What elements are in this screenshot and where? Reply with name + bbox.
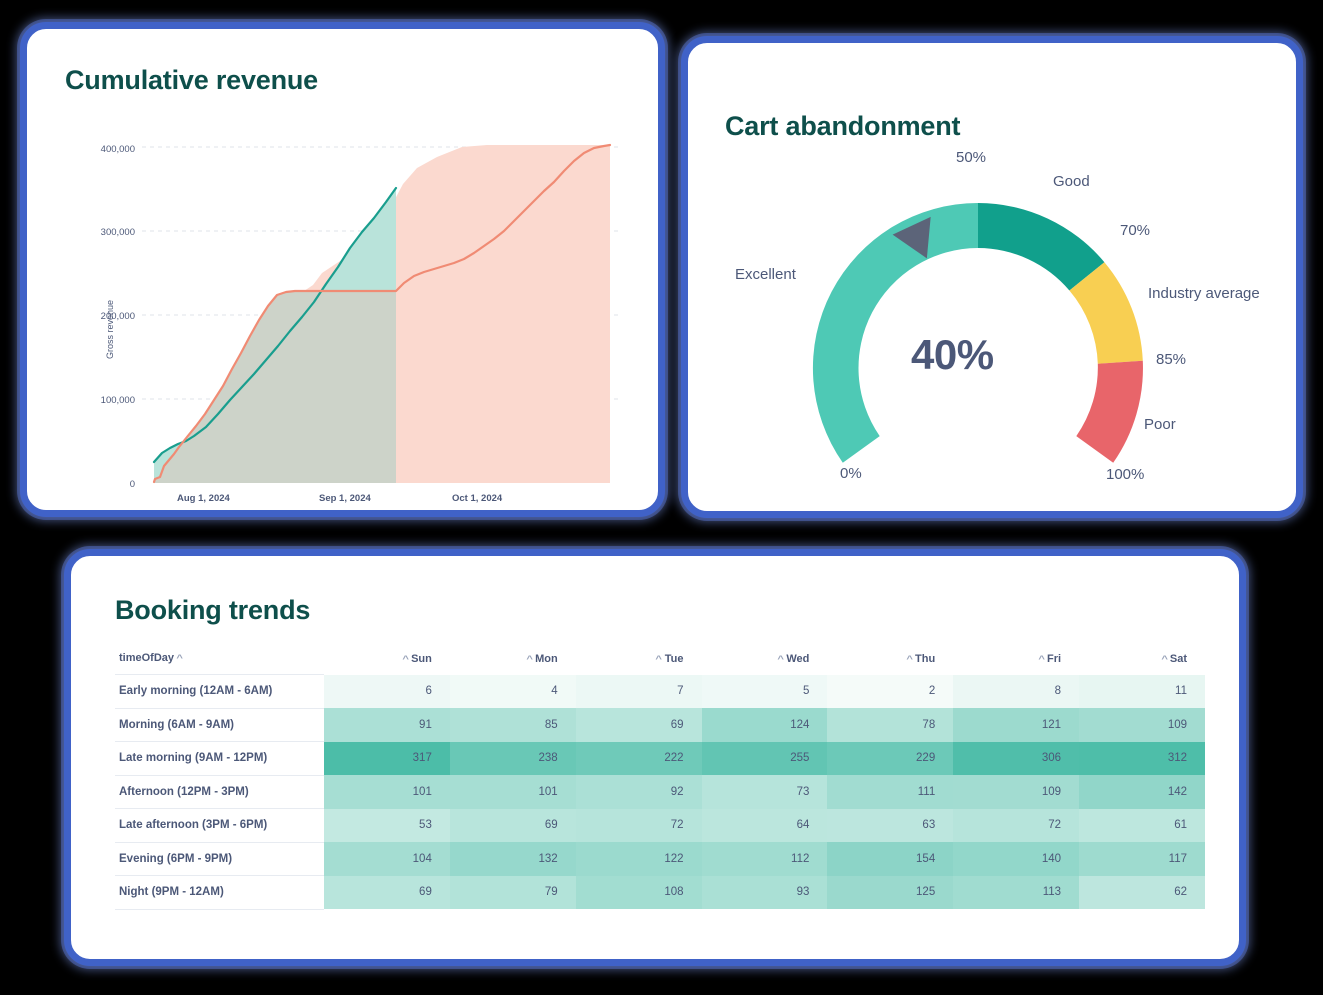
caret-up-icon[interactable]: ^ [1038, 654, 1045, 664]
caret-up-icon[interactable]: ^ [402, 654, 409, 664]
column-header-label: Thu [915, 653, 935, 665]
heatmap-cell[interactable]: 132 [450, 842, 576, 876]
table-head: timeOfDay ^ ^ Sun ^ Mon ^ [115, 652, 1205, 675]
y-axis-tick: 0 [67, 479, 135, 490]
gauge-tick-70: 70% [1120, 222, 1150, 239]
heatmap-cell[interactable]: 238 [450, 742, 576, 776]
row-label: Morning (6AM - 9AM) [115, 708, 324, 742]
heatmap-cell[interactable]: 125 [827, 876, 953, 910]
heatmap-cell[interactable]: 53 [324, 809, 450, 843]
table-row[interactable]: Late morning (9AM - 12PM)317238222255229… [115, 742, 1205, 776]
y-axis-tick: 400,000 [67, 144, 135, 155]
gauge-tick-0: 0% [840, 465, 862, 482]
column-header-label: Sat [1170, 653, 1187, 665]
cart-abandonment-gauge: 40% 0% 50% 70% 85% 100% Excellent Good I… [708, 123, 1293, 513]
gauge-band-label-excellent: Excellent [735, 266, 796, 283]
heatmap-cell[interactable]: 4 [450, 675, 576, 709]
revenue-plot-svg [142, 143, 622, 533]
heatmap-cell[interactable]: 108 [576, 876, 702, 910]
booking-trends-table-wrap: timeOfDay ^ ^ Sun ^ Mon ^ [115, 652, 1205, 910]
heatmap-cell[interactable]: 112 [702, 842, 828, 876]
column-header-label: timeOfDay [119, 652, 174, 664]
gauge-svg [743, 133, 1213, 513]
gauge-band-label-industry: Industry average [1148, 285, 1260, 302]
column-header-timeofday[interactable]: timeOfDay ^ [115, 652, 324, 675]
heatmap-cell[interactable]: 154 [827, 842, 953, 876]
column-header-tue[interactable]: ^ Tue [576, 652, 702, 675]
table-row[interactable]: Afternoon (12PM - 3PM)101101927311110914… [115, 775, 1205, 809]
x-axis-tick: Oct 1, 2024 [452, 493, 502, 504]
cumulative-revenue-card: Cumulative revenue Gross revenue 400,000… [20, 22, 665, 517]
heatmap-cell[interactable]: 62 [1079, 876, 1205, 910]
overlap-area [154, 291, 396, 483]
gauge-band-label-good: Good [1053, 173, 1090, 190]
caret-up-icon[interactable]: ^ [1161, 654, 1168, 664]
column-header-thu[interactable]: ^ Thu [827, 652, 953, 675]
heatmap-cell[interactable]: 229 [827, 742, 953, 776]
y-axis-tick: 100,000 [67, 395, 135, 406]
heatmap-cell[interactable]: 72 [953, 809, 1079, 843]
column-header-wed[interactable]: ^ Wed [702, 652, 828, 675]
heatmap-cell[interactable]: 7 [576, 675, 702, 709]
table-row[interactable]: Late afternoon (3PM - 6PM)53697264637261 [115, 809, 1205, 843]
heatmap-cell[interactable]: 113 [953, 876, 1079, 910]
heatmap-cell[interactable]: 109 [1079, 708, 1205, 742]
heatmap-cell[interactable]: 101 [450, 775, 576, 809]
heatmap-cell[interactable]: 8 [953, 675, 1079, 709]
heatmap-cell[interactable]: 64 [702, 809, 828, 843]
heatmap-cell[interactable]: 72 [576, 809, 702, 843]
gauge-band-label-poor: Poor [1144, 416, 1176, 433]
heatmap-cell[interactable]: 255 [702, 742, 828, 776]
heatmap-cell[interactable]: 306 [953, 742, 1079, 776]
caret-up-icon[interactable]: ^ [906, 654, 913, 664]
caret-up-icon[interactable]: ^ [777, 654, 784, 664]
heatmap-cell[interactable]: 101 [324, 775, 450, 809]
gauge-tick-85: 85% [1156, 351, 1186, 368]
cumulative-revenue-chart: Gross revenue 400,000 300,000 200,000 10… [37, 109, 657, 509]
column-header-label: Sun [411, 653, 432, 665]
row-label: Early morning (12AM - 6AM) [115, 675, 324, 709]
heatmap-cell[interactable]: 69 [324, 876, 450, 910]
column-header-label: Mon [535, 653, 558, 665]
booking-trends-table: timeOfDay ^ ^ Sun ^ Mon ^ [115, 652, 1205, 910]
column-header-mon[interactable]: ^ Mon [450, 652, 576, 675]
heatmap-cell[interactable]: 91 [324, 708, 450, 742]
heatmap-cell[interactable]: 85 [450, 708, 576, 742]
heatmap-cell[interactable]: 122 [576, 842, 702, 876]
heatmap-cell[interactable]: 104 [324, 842, 450, 876]
heatmap-cell[interactable]: 317 [324, 742, 450, 776]
caret-up-icon[interactable]: ^ [656, 654, 663, 664]
heatmap-cell[interactable]: 79 [450, 876, 576, 910]
heatmap-cell[interactable]: 73 [702, 775, 828, 809]
y-axis-title: Gross revenue [105, 300, 115, 359]
table-body: Early morning (12AM - 6AM)64752811Mornin… [115, 675, 1205, 910]
row-label: Night (9PM - 12AM) [115, 876, 324, 910]
heatmap-cell[interactable]: 92 [576, 775, 702, 809]
heatmap-cell[interactable]: 93 [702, 876, 828, 910]
heatmap-cell[interactable]: 78 [827, 708, 953, 742]
table-row[interactable]: Night (9PM - 12AM)69791089312511362 [115, 876, 1205, 910]
row-label: Late morning (9AM - 12PM) [115, 742, 324, 776]
row-label: Afternoon (12PM - 3PM) [115, 775, 324, 809]
booking-trends-card: Booking trends timeOfDay ^ ^ Sun [64, 549, 1246, 966]
page-title-cumulative-revenue: Cumulative revenue [65, 65, 318, 96]
dashboard-root: Cumulative revenue Gross revenue 400,000… [0, 0, 1323, 995]
heatmap-cell[interactable]: 63 [827, 809, 953, 843]
y-axis-tick: 200,000 [67, 311, 135, 322]
column-header-fri[interactable]: ^ Fri [953, 652, 1079, 675]
heatmap-cell[interactable]: 2 [827, 675, 953, 709]
heatmap-cell[interactable]: 117 [1079, 842, 1205, 876]
heatmap-cell[interactable]: 222 [576, 742, 702, 776]
table-row[interactable]: Morning (6AM - 9AM)91856912478121109 [115, 708, 1205, 742]
caret-up-icon[interactable]: ^ [526, 654, 533, 664]
heatmap-cell[interactable]: 6 [324, 675, 450, 709]
x-axis-tick: Aug 1, 2024 [177, 493, 230, 504]
column-header-sat[interactable]: ^ Sat [1079, 652, 1205, 675]
heatmap-cell[interactable]: 11 [1079, 675, 1205, 709]
heatmap-cell[interactable]: 121 [953, 708, 1079, 742]
row-label: Late afternoon (3PM - 6PM) [115, 809, 324, 843]
table-header-row: timeOfDay ^ ^ Sun ^ Mon ^ [115, 652, 1205, 675]
gauge-tick-50: 50% [956, 149, 986, 166]
heatmap-cell[interactable]: 124 [702, 708, 828, 742]
page-title-booking-trends: Booking trends [115, 595, 310, 626]
heatmap-cell[interactable]: 111 [827, 775, 953, 809]
row-label: Evening (6PM - 9PM) [115, 842, 324, 876]
y-axis-tick: 300,000 [67, 227, 135, 238]
gauge-value-label: 40% [911, 331, 994, 379]
column-header-label: Wed [786, 653, 809, 665]
cart-abandonment-card: Cart abandonment 40% 0% 50% 70 [681, 36, 1303, 518]
heatmap-cell[interactable]: 140 [953, 842, 1079, 876]
heatmap-cell[interactable]: 109 [953, 775, 1079, 809]
x-axis-tick: Sep 1, 2024 [319, 493, 371, 504]
column-header-label: Tue [665, 653, 684, 665]
heatmap-cell[interactable]: 61 [1079, 809, 1205, 843]
gauge-band-poor [1076, 361, 1143, 463]
gauge-band-good [978, 203, 1104, 291]
heatmap-cell[interactable]: 69 [576, 708, 702, 742]
caret-up-icon[interactable]: ^ [176, 653, 183, 663]
gauge-tick-100: 100% [1106, 466, 1144, 483]
heatmap-cell[interactable]: 142 [1079, 775, 1205, 809]
table-row[interactable]: Evening (6PM - 9PM)104132122112154140117 [115, 842, 1205, 876]
column-header-sun[interactable]: ^ Sun [324, 652, 450, 675]
table-row[interactable]: Early morning (12AM - 6AM)64752811 [115, 675, 1205, 709]
heatmap-cell[interactable]: 5 [702, 675, 828, 709]
column-header-label: Fri [1047, 653, 1061, 665]
heatmap-cell[interactable]: 69 [450, 809, 576, 843]
heatmap-cell[interactable]: 312 [1079, 742, 1205, 776]
